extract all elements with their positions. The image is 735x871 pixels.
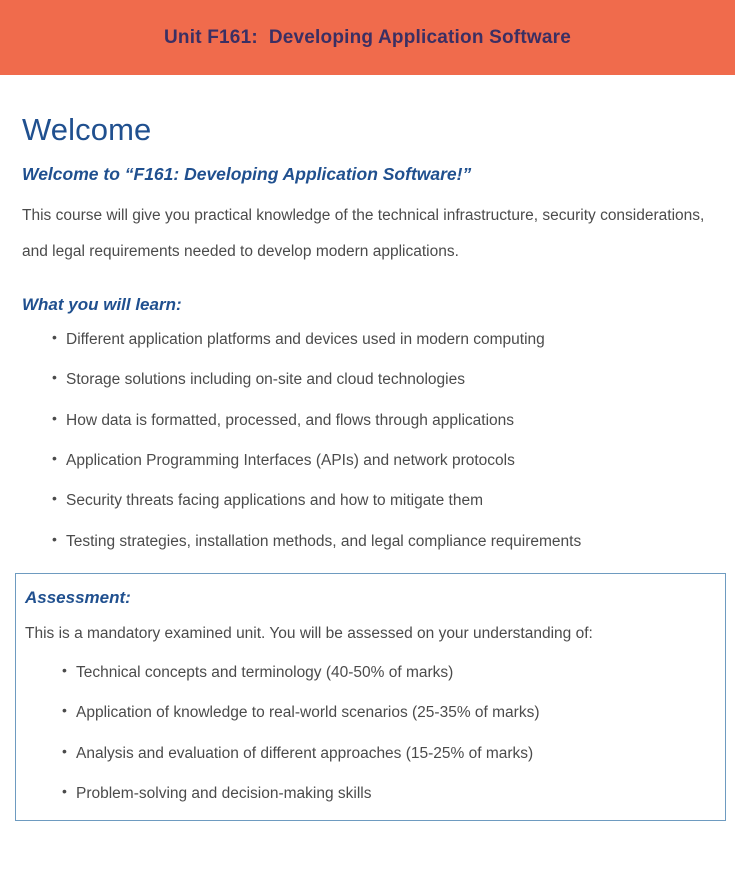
- list-item: Application Programming Interfaces (APIs…: [52, 451, 715, 470]
- unit-title: Unit F161: Developing Application Softwa…: [164, 27, 571, 49]
- assessment-criteria-list: Technical concepts and terminology (40-5…: [24, 663, 715, 804]
- list-item: Storage solutions including on-site and …: [52, 370, 715, 389]
- page-title: Welcome: [22, 113, 715, 147]
- page-content: Welcome Welcome to “F161: Developing App…: [0, 113, 735, 821]
- list-item: Application of knowledge to real-world s…: [62, 703, 715, 722]
- assessment-lead-text: This is a mandatory examined unit. You w…: [24, 624, 715, 643]
- list-item: Testing strategies, installation methods…: [52, 532, 715, 551]
- assessment-callout: Assessment: This is a mandatory examined…: [15, 573, 726, 821]
- what-you-will-learn-heading: What you will learn:: [22, 295, 715, 315]
- learning-outcomes-list: Different application platforms and devi…: [22, 330, 715, 551]
- list-item: Different application platforms and devi…: [52, 330, 715, 349]
- list-item: Analysis and evaluation of different app…: [62, 744, 715, 763]
- list-item: How data is formatted, processed, and fl…: [52, 411, 715, 430]
- list-item: Security threats facing applications and…: [52, 491, 715, 510]
- intro-paragraph: This course will give you practical know…: [22, 198, 715, 269]
- welcome-subtitle: Welcome to “F161: Developing Application…: [22, 164, 715, 185]
- assessment-heading: Assessment:: [24, 588, 715, 608]
- page-banner: Unit F161: Developing Application Softwa…: [0, 0, 735, 75]
- list-item: Technical concepts and terminology (40-5…: [62, 663, 715, 682]
- list-item: Problem-solving and decision-making skil…: [62, 784, 715, 803]
